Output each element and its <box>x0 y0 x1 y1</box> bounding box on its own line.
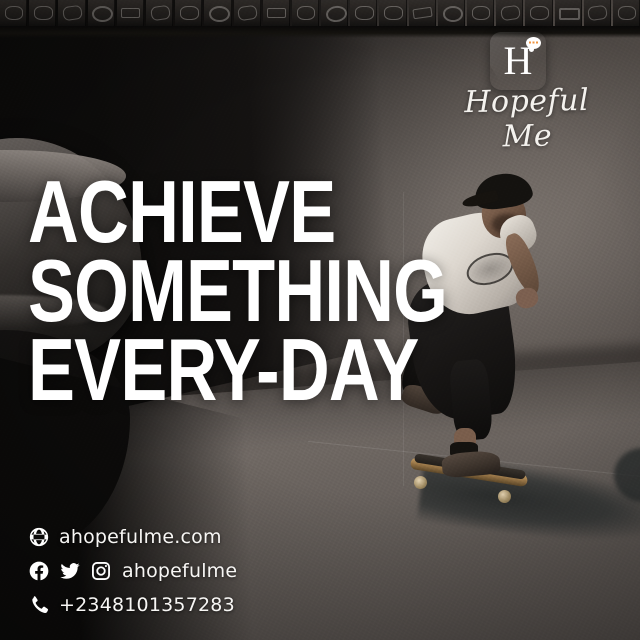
social-icon-group <box>28 560 112 582</box>
instagram-icon[interactable] <box>90 560 112 582</box>
page-title: ACHIEVE SOMETHING EVERY-DAY <box>28 172 364 410</box>
speech-bubble-icon <box>526 37 541 49</box>
speech-bubble-dots <box>528 41 539 44</box>
twitter-icon[interactable] <box>59 560 81 582</box>
headline-line-1: ACHIEVE <box>28 172 364 251</box>
phone-text: +2348101357283 <box>59 594 235 616</box>
brand-logo-mark[interactable]: H <box>490 32 546 90</box>
globe-icon <box>28 526 50 548</box>
headline-line-2: SOMETHING <box>28 251 364 330</box>
contact-block: ahopefulme.com <box>28 520 237 622</box>
social-handle-text: ahopefulme <box>122 560 237 582</box>
headline-line-3: EVERY-DAY <box>28 330 364 409</box>
brand-name: Hopeful Me <box>437 82 616 155</box>
website-text: ahopefulme.com <box>59 526 222 548</box>
contact-row-phone[interactable]: +2348101357283 <box>28 588 237 622</box>
promo-poster: H Hopeful Me ACHIEVE SOMETHING EVERY-DAY… <box>0 0 640 640</box>
phone-icon <box>28 594 50 616</box>
contact-row-social[interactable]: ahopefulme <box>28 554 237 588</box>
facebook-icon[interactable] <box>28 560 50 582</box>
contact-row-website[interactable]: ahopefulme.com <box>28 520 237 554</box>
